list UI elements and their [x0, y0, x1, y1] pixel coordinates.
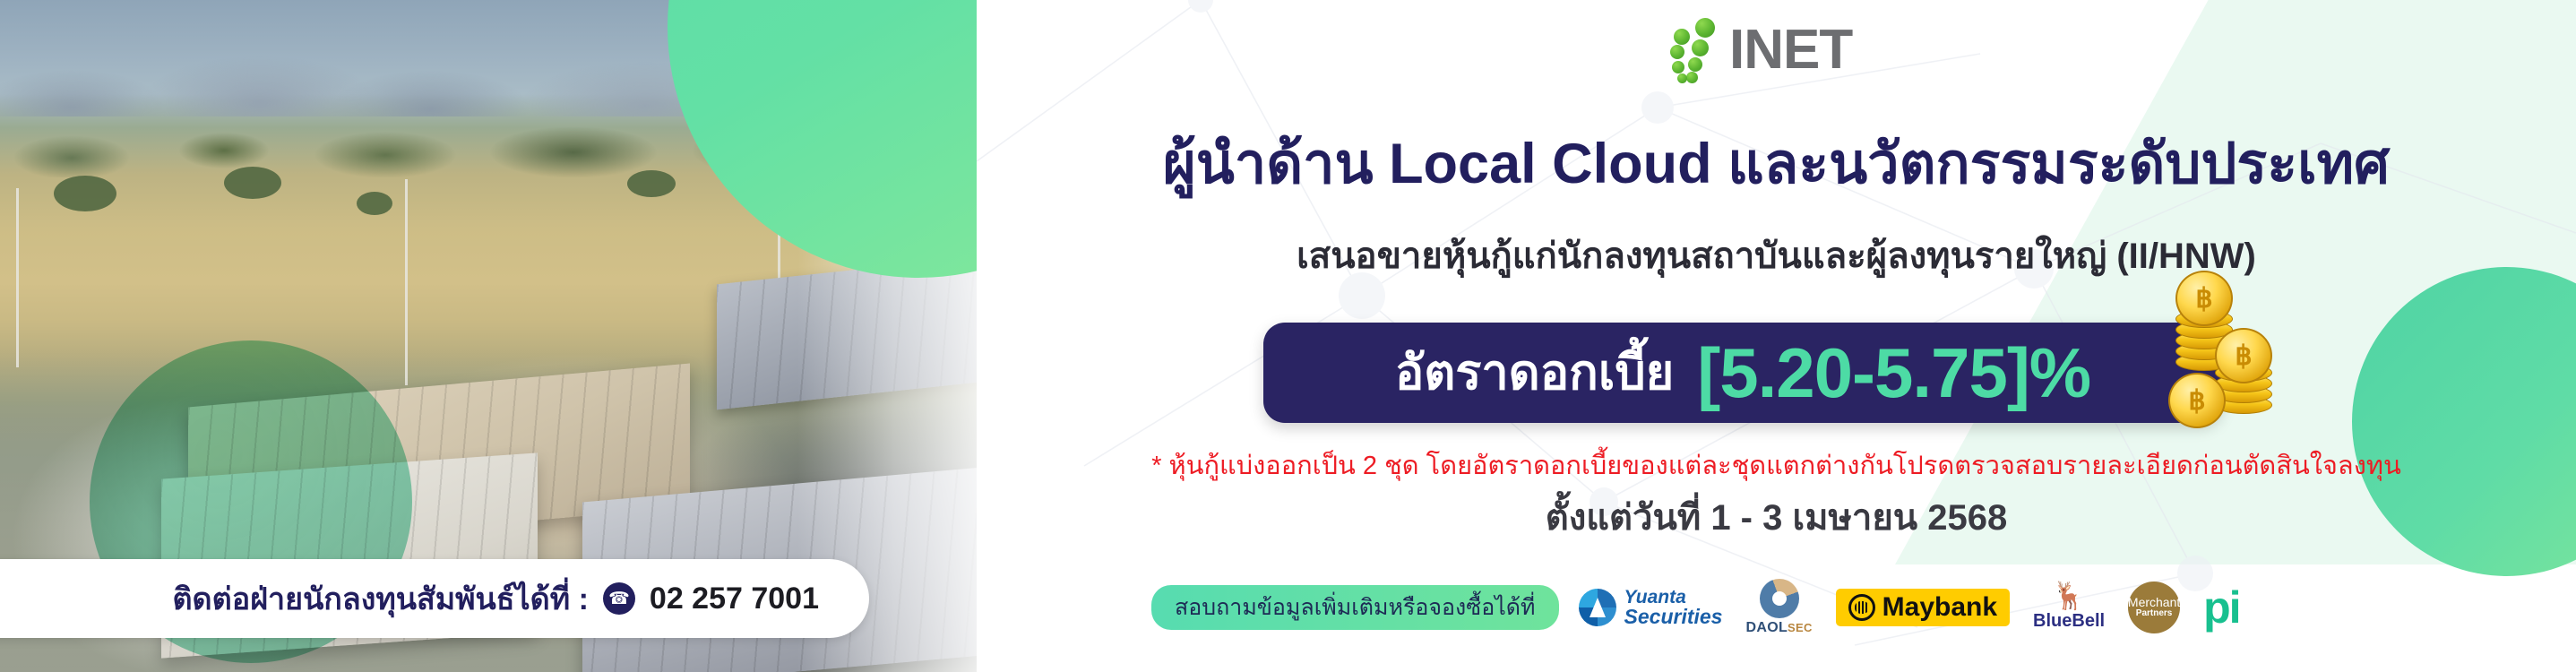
tree [627, 170, 676, 197]
enquiry-button[interactable]: สอบถามข้อมูลเพิ่มเติมหรือจองซื้อได้ที่ [1151, 585, 1559, 631]
broker-logo-daol[interactable]: DAOLSEC [1745, 581, 1812, 634]
pi-logo-icon: pi [2203, 589, 2239, 627]
tree [357, 192, 392, 215]
investor-relations-contact: ติดต่อฝ่ายนักลงทุนสัมพันธ์ได้ที่ : ☎ 02 … [0, 559, 869, 638]
rate-value: [5.20-5.75]% [1697, 338, 2090, 408]
daol-sub: SEC [1788, 621, 1813, 634]
phone-icon: ☎ [603, 582, 635, 615]
page-title: ผู้นำด้าน Local Cloud และนวัตกรรมระดับปร… [977, 133, 2576, 196]
broker-logos: Yuanta Securities DAOLSEC [1579, 581, 2240, 634]
tree [54, 176, 116, 211]
broker-logo-pi[interactable]: pi [2203, 581, 2239, 634]
yuanta-star-icon [1579, 589, 1616, 626]
page-subtitle: เสนอขายหุ้นกู้แก่นักลงทุนสถาบันและผู้ลงท… [977, 235, 2576, 278]
inet-logo: INET [1668, 16, 1852, 84]
rate-label: อัตราดอกเบี้ย [1395, 349, 1674, 397]
contact-phone-number[interactable]: 02 257 7001 [650, 582, 819, 616]
broker-logo-yuanta[interactable]: Yuanta Securities [1579, 581, 1723, 634]
bluebell-deer-icon: 🦌 [2052, 583, 2085, 610]
interest-rate-badge: อัตราดอกเบี้ย [5.20-5.75]% [1263, 323, 2222, 423]
broker-logo-merchant-partners[interactable]: Merchant Partners [2128, 581, 2180, 634]
maybank-wordmark: Maybank [1882, 594, 1997, 621]
cta-row: สอบถามข้อมูลเพิ่มเติมหรือจองซื้อได้ที่ Y… [977, 581, 2576, 634]
yuanta-line1: Yuanta [1624, 588, 1723, 607]
daol-circle-icon [1760, 579, 1799, 618]
daol-main: DAOL [1745, 620, 1788, 635]
merchant-line2: Partners [2136, 609, 2173, 619]
gold-coin-stack-icon: ฿ ฿ ฿ [2168, 296, 2285, 435]
broker-logo-maybank[interactable]: Maybank [1836, 581, 2010, 634]
broker-logo-bluebell[interactable]: 🦌 BlueBell [2033, 581, 2105, 634]
promotional-banner: INET ผู้นำด้าน Local Cloud และนวัตกรรมระ… [0, 0, 2576, 672]
yuanta-line2: Securities [1624, 607, 1723, 627]
maybank-tiger-icon [1848, 594, 1875, 621]
tree [224, 167, 281, 199]
merchant-line1: Merchant [2128, 596, 2180, 609]
content-panel: INET ผู้นำด้าน Local Cloud และนวัตกรรมระ… [977, 0, 2576, 672]
offering-dates: ตั้งแต่วันที่ 1 - 3 เมษายน 2568 [977, 495, 2576, 541]
utility-pole [405, 179, 408, 385]
contact-label: ติดต่อฝ่ายนักลงทุนสัมพันธ์ได้ที่ : [172, 574, 588, 623]
inet-dots-icon [1668, 16, 1724, 84]
bluebell-wordmark: BlueBell [2033, 611, 2105, 632]
disclaimer-text: * หุ้นกู้แบ่งออกเป็น 2 ชุด โดยอัตราดอกเบ… [977, 450, 2576, 484]
utility-pole [16, 188, 19, 367]
merchant-circle-icon: Merchant Partners [2128, 582, 2180, 633]
inet-wordmark: INET [1729, 22, 1852, 78]
